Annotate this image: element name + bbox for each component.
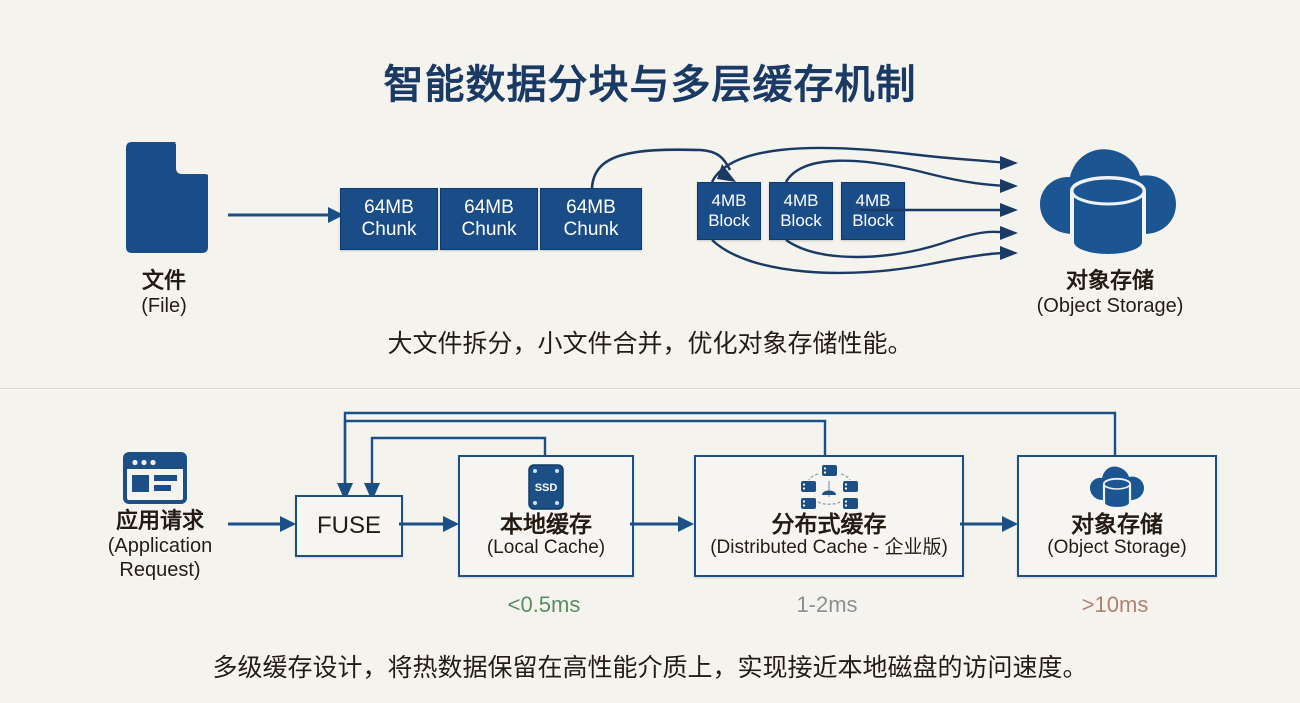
app-window-icon: [123, 452, 187, 504]
object-storage-box[interactable]: 对象存储 (Object Storage): [1017, 455, 1217, 577]
arrow-file-to-chunks: [228, 200, 344, 230]
section-divider: [0, 388, 1300, 389]
file-label-cn: 文件: [58, 268, 270, 294]
fuse-label: FUSE: [297, 497, 401, 555]
block-merge-curves: [690, 140, 1020, 270]
application-label-en-2: Request): [55, 558, 265, 582]
distributed-cache-label-cn: 分布式缓存: [772, 511, 887, 537]
arrow-app-to-fuse: [228, 509, 298, 539]
distributed-cache-label-en: (Distributed Cache - 企业版): [710, 537, 948, 560]
diagram-canvas: 智能数据分块与多层缓存机制 文件 (File) 64MB Chunk 64MB …: [0, 0, 1300, 703]
chunk-unit: Chunk: [462, 219, 517, 240]
chunk-unit: Chunk: [564, 219, 619, 240]
file-label-en: (File): [58, 294, 270, 318]
distributed-cache-box[interactable]: 分布式缓存 (Distributed Cache - 企业版): [694, 455, 964, 577]
ssd-icon: SSD: [528, 465, 564, 509]
object-storage-label-en: (Object Storage): [995, 294, 1225, 318]
object-storage-label-cn: 对象存储: [995, 268, 1225, 294]
object-storage-box-label-en: (Object Storage): [1047, 537, 1186, 560]
cloud-database-icon: [1089, 465, 1145, 509]
local-cache-label-cn: 本地缓存: [500, 511, 592, 537]
page-title: 智能数据分块与多层缓存机制: [0, 52, 1300, 110]
distributed-nodes-icon: [798, 465, 860, 509]
local-cache-box[interactable]: SSD 本地缓存 (Local Cache): [458, 455, 634, 577]
chunk-size: 64MB: [464, 197, 514, 218]
latency-object-storage: >10ms: [1017, 592, 1213, 618]
local-cache-label-en: (Local Cache): [487, 537, 605, 560]
arrow-distributed-to-object-storage: [960, 509, 1020, 539]
object-storage-box-label-cn: 对象存储: [1071, 511, 1163, 537]
latency-local-cache: <0.5ms: [458, 592, 630, 618]
chunk-size: 64MB: [364, 197, 414, 218]
arrow-fuse-to-local-cache: [399, 509, 461, 539]
latency-distributed-cache: 1-2ms: [694, 592, 960, 618]
svg-text:SSD: SSD: [535, 482, 558, 494]
chunk-unit: Chunk: [362, 219, 417, 240]
chunking-caption: 大文件拆分，小文件合并，优化对象存储性能。: [0, 324, 1300, 360]
cache-caption: 多级缓存设计，将热数据保留在高性能介质上，实现接近本地磁盘的访问速度。: [0, 648, 1300, 684]
chunk-box: 64MB Chunk: [340, 188, 438, 250]
file-label: 文件 (File): [58, 268, 270, 318]
file-document-icon: [118, 140, 210, 255]
chunk-box: 64MB Chunk: [440, 188, 538, 250]
cloud-database-icon: [1038, 142, 1178, 260]
fuse-box[interactable]: FUSE: [295, 495, 403, 557]
object-storage-label: 对象存储 (Object Storage): [995, 268, 1225, 318]
arrow-local-to-distributed: [630, 509, 696, 539]
